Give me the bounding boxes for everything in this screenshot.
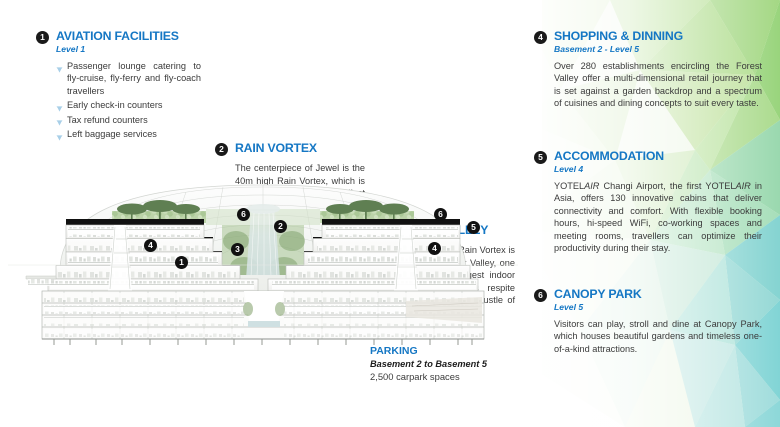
diagram-marker-1: 1 xyxy=(175,256,188,269)
section-aviation-facilities: 1 AVIATION FACILITIES Level 1 Passenger … xyxy=(36,30,201,140)
section-number-badge: 4 xyxy=(534,31,547,44)
section-canopy-park: 6 CANOPY PARK Level 5 Visitors can play,… xyxy=(534,288,762,355)
section-body: Over 280 establishments encircling the F… xyxy=(534,60,762,110)
section-number-badge: 2 xyxy=(215,143,228,156)
section-level: Level 5 xyxy=(554,302,762,313)
right-green-panel: 4 SHOPPING & DINNING Basement 2 - Level … xyxy=(520,0,780,427)
building-cross-section-diagram: 4 1 3 6 2 6 5 4 xyxy=(8,175,518,350)
diamond-bullet-icon xyxy=(56,117,63,123)
diamond-bullet-icon xyxy=(56,64,63,70)
section-header: 1 AVIATION FACILITIES Level 1 xyxy=(36,30,201,55)
list-item: Tax refund counters xyxy=(56,114,201,126)
section-title: ACCOMMODATION xyxy=(554,150,762,163)
section-number-badge: 5 xyxy=(534,151,547,164)
parking-title: PARKING xyxy=(370,345,550,357)
body-part-italic: AIR xyxy=(735,181,750,191)
section-body: YOTELAIR Changi Airport, the first YOTEL… xyxy=(534,180,762,254)
section-level: Level 1 xyxy=(56,44,201,55)
list-item-label: Tax refund counters xyxy=(67,115,148,125)
aviation-facilities-list: Passenger lounge catering to fly-cruise,… xyxy=(36,60,201,140)
section-title: CANOPY PARK xyxy=(554,288,762,301)
section-level: Level 4 xyxy=(554,164,762,175)
section-header: 4 SHOPPING & DINNING Basement 2 - Level … xyxy=(534,30,762,55)
list-item: Left baggage services xyxy=(56,128,201,140)
body-part-italic: AIR xyxy=(584,181,599,191)
section-header: 5 ACCOMMODATION Level 4 xyxy=(534,150,762,175)
list-item-label: Passenger lounge catering to fly-cruise,… xyxy=(67,61,201,96)
list-item: Early check-in counters xyxy=(56,99,201,111)
basement-carpark-levels xyxy=(42,291,484,345)
parking-capacity: 2,500 carpark spaces xyxy=(370,371,550,383)
body-part: Changi Airport, the first YOTEL xyxy=(599,181,735,191)
diagram-marker-6-left: 6 xyxy=(237,208,250,221)
section-accommodation: 5 ACCOMMODATION Level 4 YOTELAIR Changi … xyxy=(534,150,762,254)
diamond-bullet-icon xyxy=(56,132,63,138)
parking-info-block: PARKING Basement 2 to Basement 5 2,500 c… xyxy=(370,345,550,383)
list-item-label: Early check-in counters xyxy=(67,100,163,110)
section-header: 2 RAIN VORTEX xyxy=(215,142,365,157)
section-number-badge: 6 xyxy=(534,289,547,302)
jewel-section-artwork xyxy=(8,175,518,350)
diagram-marker-3: 3 xyxy=(231,243,244,256)
section-body: Visitors can play, stroll and dine at Ca… xyxy=(534,318,762,355)
section-level: Basement 2 - Level 5 xyxy=(554,44,762,55)
diagram-marker-5: 5 xyxy=(467,221,480,234)
section-shopping-dinning: 4 SHOPPING & DINNING Basement 2 - Level … xyxy=(534,30,762,110)
section-title: AVIATION FACILITIES xyxy=(56,30,201,43)
diagram-marker-4-right: 4 xyxy=(428,242,441,255)
diamond-bullet-icon xyxy=(56,103,63,109)
section-header: 6 CANOPY PARK Level 5 xyxy=(534,288,762,313)
list-item: Passenger lounge catering to fly-cruise,… xyxy=(56,60,201,97)
body-part: in Asia, offers 130 innovative cabins th… xyxy=(554,181,762,253)
section-title: RAIN VORTEX xyxy=(235,142,365,155)
diagram-marker-4-left: 4 xyxy=(144,239,157,252)
list-item-label: Left baggage services xyxy=(67,129,157,139)
section-number-badge: 1 xyxy=(36,31,49,44)
section-title: SHOPPING & DINNING xyxy=(554,30,762,43)
body-part: YOTEL xyxy=(554,181,584,191)
infographic-canvas: 4 SHOPPING & DINNING Basement 2 - Level … xyxy=(0,0,780,427)
diagram-marker-6-right: 6 xyxy=(434,208,447,221)
diagram-marker-2: 2 xyxy=(274,220,287,233)
parking-level: Basement 2 to Basement 5 xyxy=(370,358,550,370)
